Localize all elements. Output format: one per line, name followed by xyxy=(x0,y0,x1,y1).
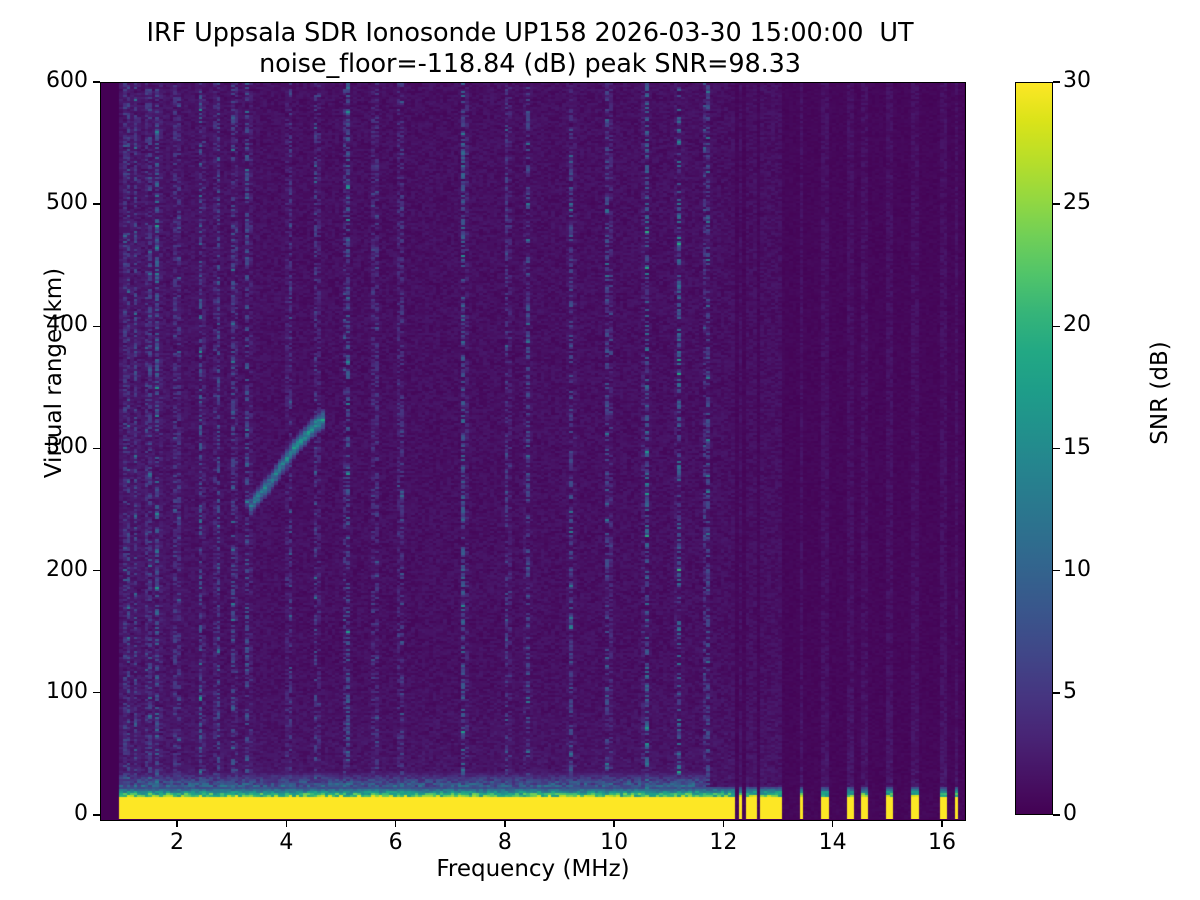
x-tick-label: 4 xyxy=(256,830,316,855)
y-tick-label: 100 xyxy=(46,679,88,704)
colorbar-tick-mark xyxy=(1053,326,1060,327)
x-tick-label: 10 xyxy=(584,830,644,855)
y-tick-mark xyxy=(93,203,100,204)
x-tick-mark xyxy=(832,820,833,827)
colorbar-tick-label: 5 xyxy=(1063,679,1077,704)
x-tick-mark xyxy=(504,820,505,827)
colorbar-tick-label: 10 xyxy=(1063,557,1091,582)
x-tick-label: 14 xyxy=(803,830,863,855)
ionogram-heatmap xyxy=(101,83,964,819)
colorbar-tick-label: 0 xyxy=(1063,801,1077,826)
x-tick-label: 8 xyxy=(475,830,535,855)
colorbar[interactable] xyxy=(1015,82,1053,815)
colorbar-tick-mark xyxy=(1053,570,1060,571)
y-tick-mark xyxy=(93,814,100,815)
colorbar-tick-mark xyxy=(1053,81,1060,82)
colorbar-tick-label: 20 xyxy=(1063,312,1091,337)
ionogram-plot-area[interactable] xyxy=(100,82,966,821)
y-axis-title: Virtual range (km) xyxy=(41,223,67,523)
title-line-1: IRF Uppsala SDR Ionosonde UP158 2026-03-… xyxy=(0,18,1060,49)
y-tick-mark xyxy=(93,570,100,571)
colorbar-tick-label: 15 xyxy=(1063,435,1091,460)
x-tick-mark xyxy=(613,820,614,827)
colorbar-tick-mark xyxy=(1053,203,1060,204)
y-tick-mark xyxy=(93,81,100,82)
y-tick-label: 0 xyxy=(74,801,88,826)
y-tick-label: 200 xyxy=(46,557,88,582)
colorbar-tick-mark xyxy=(1053,448,1060,449)
y-tick-label: 500 xyxy=(46,190,88,215)
colorbar-tick-mark xyxy=(1053,692,1060,693)
colorbar-gradient xyxy=(1016,83,1052,814)
y-tick-mark xyxy=(93,326,100,327)
x-tick-mark xyxy=(723,820,724,827)
colorbar-title: SNR (dB) xyxy=(1147,243,1173,543)
colorbar-tick-label: 30 xyxy=(1063,68,1091,93)
x-tick-mark xyxy=(941,820,942,827)
x-tick-label: 12 xyxy=(693,830,753,855)
colorbar-tick-label: 25 xyxy=(1063,190,1091,215)
x-tick-mark xyxy=(395,820,396,827)
y-tick-mark xyxy=(93,448,100,449)
colorbar-tick-mark xyxy=(1053,814,1060,815)
title-line-2: noise_floor=-118.84 (dB) peak SNR=98.33 xyxy=(0,49,1060,80)
y-tick-label: 600 xyxy=(46,68,88,93)
page-title: IRF Uppsala SDR Ionosonde UP158 2026-03-… xyxy=(0,18,1060,80)
x-axis-title: Frequency (MHz) xyxy=(100,856,966,882)
y-tick-mark xyxy=(93,692,100,693)
x-tick-label: 6 xyxy=(366,830,426,855)
ionogram-figure: IRF Uppsala SDR Ionosonde UP158 2026-03-… xyxy=(0,0,1200,900)
x-tick-label: 2 xyxy=(147,830,207,855)
x-tick-mark xyxy=(176,820,177,827)
x-tick-mark xyxy=(286,820,287,827)
x-tick-label: 16 xyxy=(912,830,972,855)
